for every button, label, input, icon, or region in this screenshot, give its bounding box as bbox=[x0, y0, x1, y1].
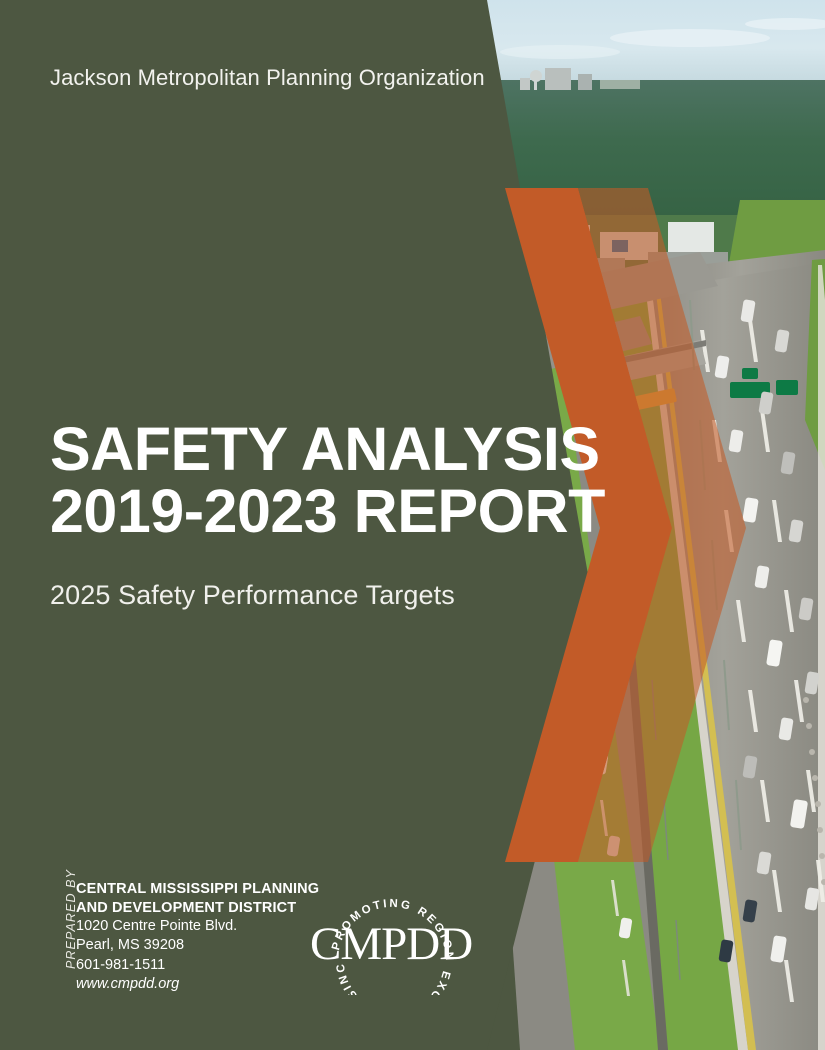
report-cover-page: Jackson Metropolitan Planning Organizati… bbox=[0, 0, 825, 1050]
agency-street: 1020 Centre Pointe Blvd. bbox=[76, 917, 319, 936]
agency-phone: 601-981-1511 bbox=[76, 956, 319, 975]
organization-name: Jackson Metropolitan Planning Organizati… bbox=[50, 65, 485, 91]
agency-website[interactable]: www.cmpdd.org bbox=[76, 975, 319, 994]
report-title-line-1: SAFETY ANALYSIS bbox=[50, 418, 570, 480]
report-title-line-2: 2019-2023 REPORT bbox=[50, 480, 570, 542]
title-block: SAFETY ANALYSIS 2019-2023 REPORT 2025 Sa… bbox=[50, 418, 570, 611]
agency-name-line-1: CENTRAL MISSISSIPPI PLANNING bbox=[76, 880, 319, 899]
logo-wordmark: CMPDD bbox=[310, 917, 460, 971]
agency-address-block: CENTRAL MISSISSIPPI PLANNING AND DEVELOP… bbox=[76, 880, 319, 994]
report-subtitle: 2025 Safety Performance Targets bbox=[50, 580, 570, 611]
agency-name-line-2: AND DEVELOPMENT DISTRICT bbox=[76, 899, 319, 918]
agency-city-state-zip: Pearl, MS 39208 bbox=[76, 936, 319, 955]
cmpdd-logo: PROMOTING REGIONAL EXCELLENCE SINCE 1968… bbox=[310, 875, 485, 995]
